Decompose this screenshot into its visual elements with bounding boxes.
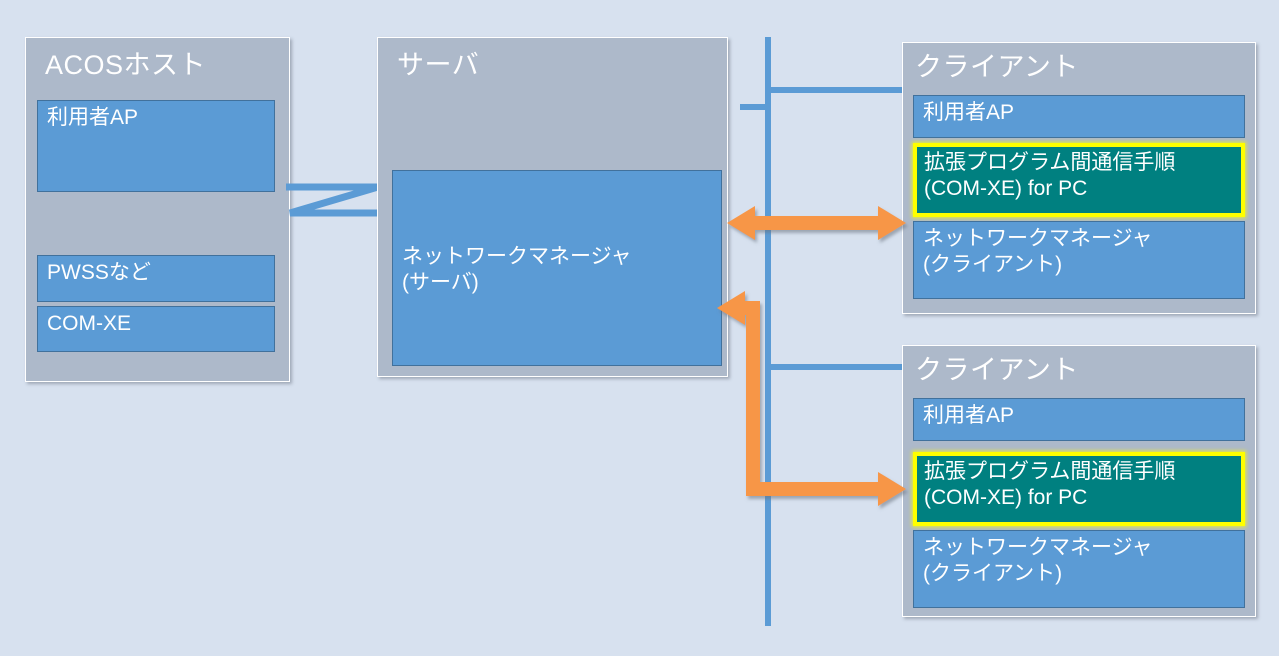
diagram-canvas: ACOSホスト 利用者AP PWSSなど COM-XE サーバ ネットワークマネ… — [0, 0, 1279, 656]
arrow-layer — [0, 0, 1279, 656]
bidirectional-arrow-top — [727, 206, 906, 240]
bidirectional-elbow-arrow-bottom — [717, 291, 906, 506]
